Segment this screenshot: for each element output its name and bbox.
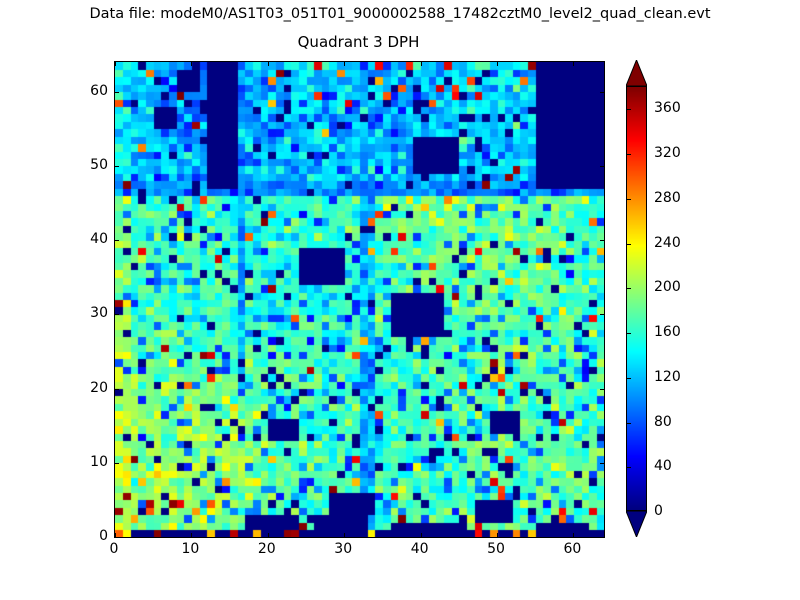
colorbar-ticklabel: 40 xyxy=(654,458,672,474)
colorbar-tick xyxy=(627,244,631,245)
x-ticklabel: 20 xyxy=(258,541,276,557)
x-tick-top xyxy=(268,62,269,66)
x-tick xyxy=(268,533,269,537)
colorbar-tick xyxy=(627,288,631,289)
colorbar-ticklabel: 0 xyxy=(654,503,663,519)
x-ticklabel: 0 xyxy=(110,541,119,557)
colorbar-extend-max-arrow xyxy=(626,60,647,86)
y-tick-right xyxy=(600,463,604,464)
colorbar-tick xyxy=(627,333,631,334)
plot-title: Quadrant 3 DPH xyxy=(114,33,603,51)
x-tick-top xyxy=(344,62,345,66)
colorbar-ticklabel: 120 xyxy=(654,369,681,385)
y-ticklabel: 20 xyxy=(90,380,108,396)
y-ticklabel: 30 xyxy=(90,305,108,321)
y-tick-right xyxy=(600,314,604,315)
colorbar-tick xyxy=(627,423,631,424)
x-ticklabel: 50 xyxy=(487,541,505,557)
colorbar-ticklabel: 240 xyxy=(654,235,681,251)
colorbar-gradient-canvas xyxy=(627,87,646,510)
data-file-label: Data file: modeM0/AS1T03_051T01_90000025… xyxy=(0,6,800,22)
colorbar-tick xyxy=(627,467,631,468)
y-tick xyxy=(115,166,119,167)
y-tick-right xyxy=(600,92,604,93)
colorbar-ticklabel: 320 xyxy=(654,145,681,161)
y-tick-right xyxy=(600,537,604,538)
colorbar-gradient[interactable] xyxy=(626,86,647,511)
x-tick xyxy=(191,533,192,537)
colorbar[interactable]: 04080120160200240280320360 xyxy=(626,61,647,536)
y-tick-right xyxy=(600,389,604,390)
colorbar-ticklabel: 80 xyxy=(654,414,672,430)
heatmap-axes[interactable] xyxy=(114,61,605,538)
x-tick-top xyxy=(421,62,422,66)
x-tick-top xyxy=(497,62,498,66)
x-tick-top xyxy=(573,62,574,66)
y-tick xyxy=(115,92,119,93)
y-tick-right xyxy=(600,240,604,241)
colorbar-ticklabel: 200 xyxy=(654,279,681,295)
x-ticklabel: 10 xyxy=(181,541,199,557)
y-tick-right xyxy=(600,166,604,167)
colorbar-ticklabel: 360 xyxy=(654,100,681,116)
x-tick-top xyxy=(115,62,116,66)
x-ticklabel: 30 xyxy=(334,541,352,557)
y-ticklabel: 50 xyxy=(90,157,108,173)
y-tick xyxy=(115,537,119,538)
colorbar-tick xyxy=(627,199,631,200)
colorbar-ticklabel: 160 xyxy=(654,324,681,340)
y-tick xyxy=(115,314,119,315)
y-tick xyxy=(115,463,119,464)
x-tick xyxy=(421,533,422,537)
x-tick xyxy=(573,533,574,537)
x-tick xyxy=(497,533,498,537)
y-ticklabel: 40 xyxy=(90,231,108,247)
x-ticklabel: 40 xyxy=(411,541,429,557)
colorbar-extend-min-arrow xyxy=(626,511,647,537)
matplotlib-figure: Data file: modeM0/AS1T03_051T01_90000025… xyxy=(0,0,800,600)
y-tick xyxy=(115,389,119,390)
colorbar-ticklabel: 280 xyxy=(654,190,681,206)
colorbar-tick xyxy=(627,109,631,110)
y-ticklabel: 10 xyxy=(90,454,108,470)
x-ticklabel: 60 xyxy=(564,541,582,557)
y-tick xyxy=(115,240,119,241)
x-tick-top xyxy=(191,62,192,66)
colorbar-tick xyxy=(627,378,631,379)
colorbar-tick xyxy=(627,154,631,155)
detector-heatmap-image[interactable] xyxy=(115,62,604,537)
x-tick xyxy=(344,533,345,537)
y-ticklabel: 0 xyxy=(99,528,108,544)
y-ticklabel: 60 xyxy=(90,83,108,99)
